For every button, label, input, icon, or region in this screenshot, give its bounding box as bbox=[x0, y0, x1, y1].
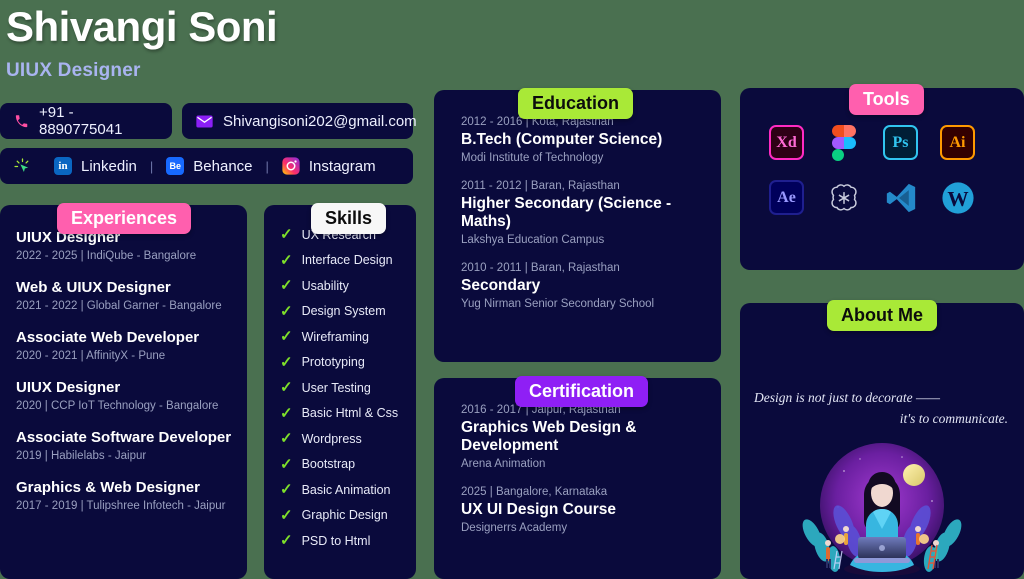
behance-mark: Be bbox=[166, 157, 184, 175]
skill-label: Interface Design bbox=[302, 253, 393, 267]
skill-label: Prototyping bbox=[302, 355, 365, 369]
section-title-education: Education bbox=[518, 88, 633, 119]
skill-label: Wordpress bbox=[302, 432, 362, 446]
experience-role: Associate Software Developer bbox=[16, 429, 247, 446]
about-quote-line-2: it's to communicate. bbox=[754, 409, 1012, 430]
adobe-xd-mark: Xd bbox=[769, 125, 804, 160]
section-title-certification: Certification bbox=[515, 376, 648, 407]
list-item: ✓Graphic Design bbox=[280, 508, 416, 523]
phone-contact[interactable]: +91 - 8890775041 bbox=[0, 103, 172, 139]
experiences-panel: UIUX Designer 2022 - 2025 | IndiQube - B… bbox=[0, 205, 247, 579]
about-quote: Design is not just to decorate —— it's t… bbox=[754, 388, 1012, 430]
adobe-photoshop-icon[interactable]: Ps bbox=[882, 124, 919, 161]
list-item: ✓Bootstrap bbox=[280, 457, 416, 472]
list-item: UIUX Designer 2022 - 2025 | IndiQube - B… bbox=[16, 229, 247, 262]
check-icon: ✓ bbox=[280, 457, 293, 472]
list-item: 2011 - 2012 | Baran, Rajasthan Higher Se… bbox=[461, 180, 721, 246]
education-org: Modi Institute of Technology bbox=[461, 152, 721, 164]
list-item: ✓Wordpress bbox=[280, 431, 416, 446]
woman-with-laptop-illustration bbox=[782, 437, 982, 579]
list-item: Web & UIUX Designer 2021 - 2022 | Global… bbox=[16, 279, 247, 312]
education-meta: 2011 - 2012 | Baran, Rajasthan bbox=[461, 180, 721, 192]
experience-role: UIUX Designer bbox=[16, 379, 247, 396]
certification-panel: 2016 - 2017 | Jaipur, Rajasthan Graphics… bbox=[434, 378, 721, 579]
education-degree: B.Tech (Computer Science) bbox=[461, 131, 721, 149]
instagram-label[interactable]: Instagram bbox=[309, 158, 376, 175]
list-item: UIUX Designer 2020 | CCP IoT Technology … bbox=[16, 379, 247, 412]
email-contact[interactable]: Shivangisoni202@gmail.com bbox=[182, 103, 413, 139]
experience-role: Associate Web Developer bbox=[16, 329, 247, 346]
about-quote-line-1: Design is not just to decorate —— bbox=[754, 390, 940, 405]
education-list: 2012 - 2016 | Kota, Rajasthan B.Tech (Co… bbox=[434, 90, 721, 310]
list-item: ✓PSD to Html bbox=[280, 533, 416, 548]
skill-label: User Testing bbox=[302, 381, 371, 395]
education-meta: 2010 - 2011 | Baran, Rajasthan bbox=[461, 262, 721, 274]
certification-org: Designerrs Academy bbox=[461, 522, 721, 534]
section-title-experiences: Experiences bbox=[57, 203, 191, 234]
skills-list: ✓UX Research ✓Interface Design ✓Usabilit… bbox=[264, 205, 416, 548]
skill-label: Wireframing bbox=[302, 330, 369, 344]
social-separator-1: | bbox=[150, 159, 153, 174]
check-icon: ✓ bbox=[280, 278, 293, 293]
experience-role: Web & UIUX Designer bbox=[16, 279, 247, 296]
wordpress-icon[interactable]: W bbox=[939, 179, 976, 216]
behance-label[interactable]: Behance bbox=[193, 158, 252, 175]
check-icon: ✓ bbox=[280, 304, 293, 319]
list-item: 2025 | Bangalore, Karnataka UX UI Design… bbox=[461, 486, 721, 534]
experience-meta: 2020 - 2021 | AffinityX - Pune bbox=[16, 350, 247, 362]
list-item: ✓Wireframing bbox=[280, 329, 416, 344]
education-panel: 2012 - 2016 | Kota, Rajasthan B.Tech (Co… bbox=[434, 90, 721, 362]
adobe-photoshop-mark: Ps bbox=[883, 125, 918, 160]
adobe-after-effects-icon[interactable]: Ae bbox=[768, 179, 805, 216]
linkedin-mark: in bbox=[54, 157, 72, 175]
about-me-panel: Design is not just to decorate —— it's t… bbox=[740, 303, 1024, 579]
section-title-about-me: About Me bbox=[827, 300, 937, 331]
skill-label: Bootstrap bbox=[302, 457, 356, 471]
check-icon: ✓ bbox=[280, 431, 293, 446]
list-item: 2016 - 2017 | Jaipur, Rajasthan Graphics… bbox=[461, 404, 721, 470]
education-degree: Higher Secondary (Science - Maths) bbox=[461, 195, 721, 231]
skill-label: PSD to Html bbox=[302, 534, 371, 548]
check-icon: ✓ bbox=[280, 533, 293, 548]
social-separator-2: | bbox=[266, 159, 269, 174]
adobe-after-effects-mark: Ae bbox=[769, 180, 804, 215]
check-icon: ✓ bbox=[280, 406, 293, 421]
skills-panel: ✓UX Research ✓Interface Design ✓Usabilit… bbox=[264, 205, 416, 579]
check-icon: ✓ bbox=[280, 355, 293, 370]
check-icon: ✓ bbox=[280, 253, 293, 268]
phone-icon bbox=[14, 114, 29, 129]
list-item: ✓Usability bbox=[280, 278, 416, 293]
envelope-icon bbox=[196, 115, 213, 128]
adobe-xd-icon[interactable]: Xd bbox=[768, 124, 805, 161]
skill-label: Graphic Design bbox=[302, 508, 388, 522]
list-item: ✓Basic Animation bbox=[280, 482, 416, 497]
certification-degree: UX UI Design Course bbox=[461, 501, 721, 519]
instagram-icon[interactable] bbox=[282, 157, 300, 175]
list-item: ✓Design System bbox=[280, 304, 416, 319]
visual-studio-icon[interactable] bbox=[882, 179, 919, 216]
linkedin-label[interactable]: Linkedin bbox=[81, 158, 137, 175]
social-links-bar: in Linkedin | Be Behance | Instagram bbox=[0, 148, 413, 184]
experience-meta: 2022 - 2025 | IndiQube - Bangalore bbox=[16, 250, 247, 262]
check-icon: ✓ bbox=[280, 482, 293, 497]
experience-meta: 2020 | CCP IoT Technology - Bangalore bbox=[16, 400, 247, 412]
list-item: ✓Basic Html & Css bbox=[280, 406, 416, 421]
figma-icon[interactable] bbox=[825, 124, 862, 161]
experience-meta: 2021 - 2022 | Global Garner - Bangalore bbox=[16, 300, 247, 312]
experiences-list: UIUX Designer 2022 - 2025 | IndiQube - B… bbox=[0, 205, 247, 512]
cursor-click-icon bbox=[14, 158, 31, 175]
list-item: Graphics & Web Designer 2017 - 2019 | Tu… bbox=[16, 479, 247, 512]
skill-label: Basic Html & Css bbox=[302, 406, 399, 420]
check-icon: ✓ bbox=[280, 508, 293, 523]
list-item: ✓Interface Design bbox=[280, 253, 416, 268]
openai-chatgpt-icon[interactable] bbox=[825, 179, 862, 216]
phone-number: +91 - 8890775041 bbox=[39, 104, 158, 138]
experience-meta: 2017 - 2019 | Tulipshree Infotech - Jaip… bbox=[16, 500, 247, 512]
check-icon: ✓ bbox=[280, 329, 293, 344]
skill-label: Usability bbox=[302, 279, 349, 293]
skill-label: Design System bbox=[302, 304, 386, 318]
certification-org: Arena Animation bbox=[461, 458, 721, 470]
education-org: Yug Nirman Senior Secondary School bbox=[461, 298, 721, 310]
list-item: Associate Software Developer 2019 | Habi… bbox=[16, 429, 247, 462]
adobe-illustrator-icon[interactable]: Ai bbox=[939, 124, 976, 161]
section-title-tools: Tools bbox=[849, 84, 924, 115]
email-address: Shivangisoni202@gmail.com bbox=[223, 113, 417, 130]
svg-text:W: W bbox=[947, 186, 968, 210]
skill-label: Basic Animation bbox=[302, 483, 391, 497]
certification-meta: 2025 | Bangalore, Karnataka bbox=[461, 486, 721, 498]
list-item: 2010 - 2011 | Baran, Rajasthan Secondary… bbox=[461, 262, 721, 310]
section-title-skills: Skills bbox=[311, 203, 386, 234]
certification-degree: Graphics Web Design & Development bbox=[461, 419, 721, 455]
page-title: Shivangi Soni bbox=[6, 6, 277, 48]
page-subtitle: UIUX Designer bbox=[6, 60, 141, 82]
tools-panel: Xd Ps Ai Ae bbox=[740, 88, 1024, 270]
behance-icon[interactable]: Be bbox=[166, 157, 184, 175]
list-item: ✓Prototyping bbox=[280, 355, 416, 370]
list-item: Associate Web Developer 2020 - 2021 | Af… bbox=[16, 329, 247, 362]
list-item: ✓User Testing bbox=[280, 380, 416, 395]
check-icon: ✓ bbox=[280, 380, 293, 395]
experience-meta: 2019 | Habilelabs - Jaipur bbox=[16, 450, 247, 462]
linkedin-icon[interactable]: in bbox=[54, 157, 72, 175]
check-icon: ✓ bbox=[280, 227, 293, 242]
experience-role: Graphics & Web Designer bbox=[16, 479, 247, 496]
education-org: Lakshya Education Campus bbox=[461, 234, 721, 246]
education-degree: Secondary bbox=[461, 277, 721, 295]
adobe-illustrator-mark: Ai bbox=[940, 125, 975, 160]
list-item: 2012 - 2016 | Kota, Rajasthan B.Tech (Co… bbox=[461, 116, 721, 164]
